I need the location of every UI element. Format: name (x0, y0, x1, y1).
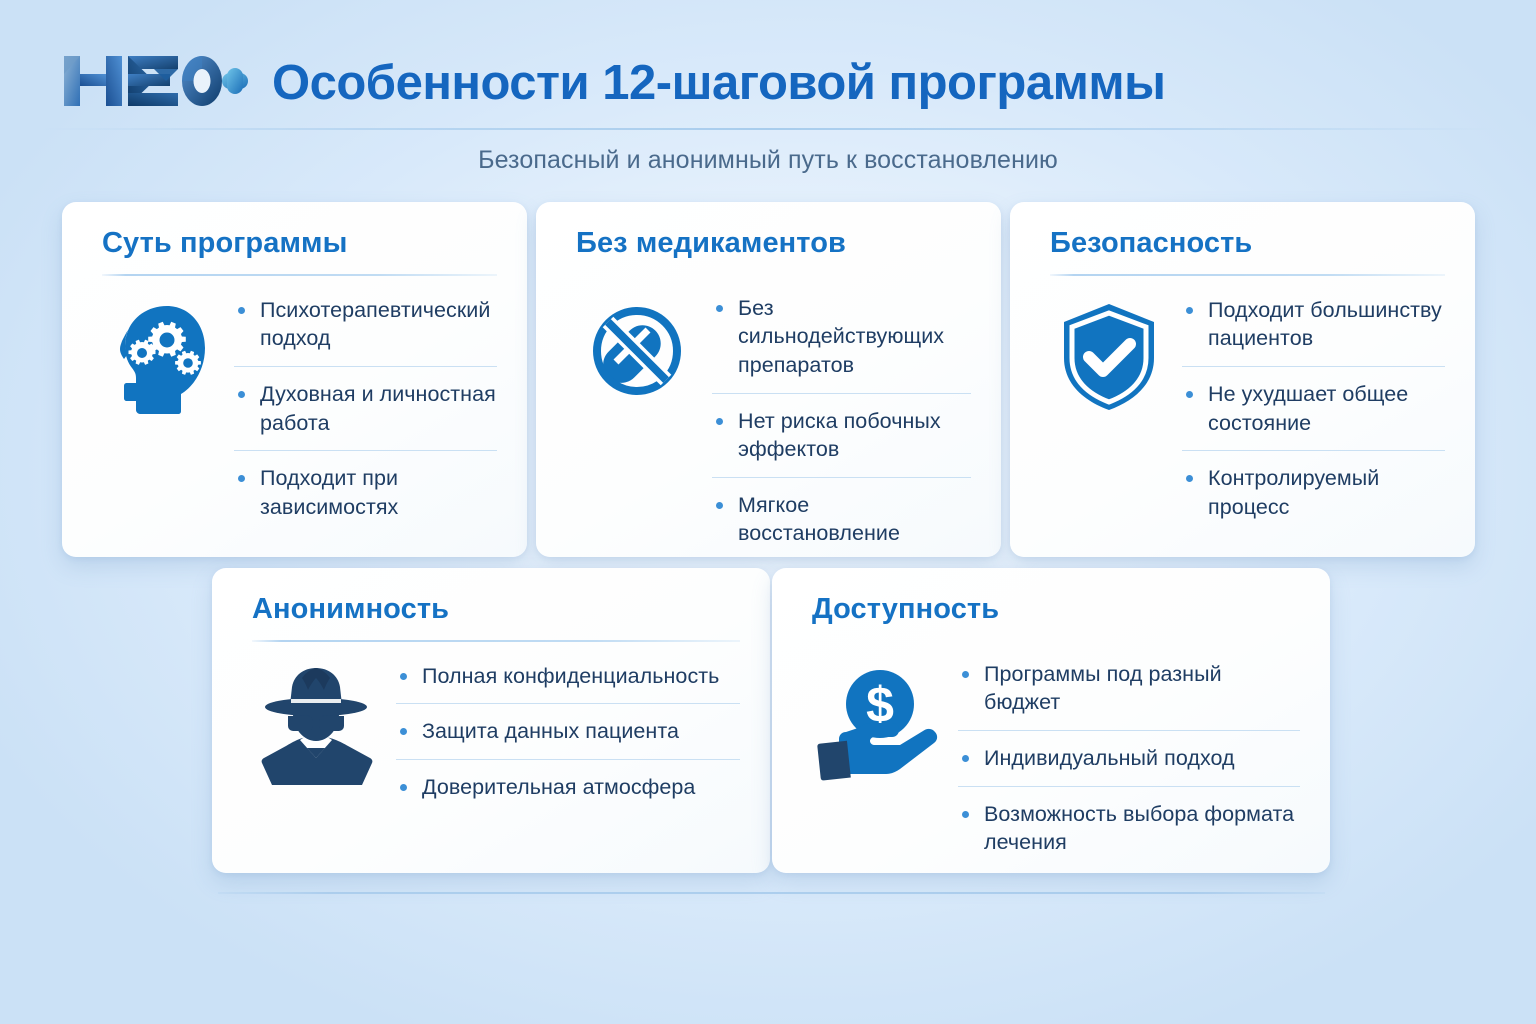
head-with-gears-icon (102, 296, 220, 414)
card-title-divider (1050, 274, 1445, 276)
list-item: Мягкое восстановление (712, 491, 971, 548)
card-title: Суть программы (102, 228, 497, 260)
card-title-divider (102, 274, 497, 276)
list-item: Подходит большинству пациентов (1182, 296, 1445, 367)
card-bez-medikamentov[interactable]: Без медикаментов Без сильно (536, 202, 1001, 557)
list-item: Защита данных пациента (396, 717, 740, 760)
list-item: Нет риска побочных эффектов (712, 407, 971, 478)
card-dostupnost[interactable]: Доступность $ Программы под разный бюдже… (772, 568, 1330, 873)
hand-with-dollar-coin-icon: $ (812, 660, 944, 788)
page-title: Особенности 12-шаговой программы (272, 44, 1165, 122)
neo-plus-logo-icon (62, 52, 248, 110)
card-body: Подходит большинству пациентов Не ухудша… (1050, 282, 1445, 539)
list-item: Без сильнодействующих препаратов (712, 294, 971, 394)
card-title: Без медикаментов (576, 228, 971, 260)
brand-logo (62, 50, 248, 112)
card-body: Без сильнодействующих препаратов Нет рис… (576, 280, 971, 548)
card-body: $ Программы под разный бюджет Индивидуал… (812, 646, 1300, 857)
card-anonimnost[interactable]: Анонимность (212, 568, 770, 873)
list-item: Психотерапевтический подход (234, 296, 497, 367)
list-item: Не ухудшает общее состояние (1182, 380, 1445, 451)
bullet-list: Подходит большинству пациентов Не ухудша… (1182, 296, 1445, 522)
card-sut-programmy[interactable]: Суть программы (62, 202, 527, 557)
card-body: Психотерапевтический подход Духовная и л… (102, 282, 497, 539)
incognito-person-icon (252, 662, 380, 788)
header: Особенности 12-шаговой программы (0, 44, 1536, 122)
no-pills-icon (576, 294, 698, 402)
shield-check-icon (1050, 296, 1168, 412)
list-item: Подходит при зависимостях (234, 464, 497, 521)
bullet-list: Без сильнодействующих препаратов Нет рис… (712, 294, 971, 548)
card-body: Полная конфиденциальность Защита данных … (252, 648, 740, 855)
footer-divider (218, 892, 1325, 894)
list-item: Доверительная атмосфера (396, 773, 740, 802)
infographic-page: Особенности 12-шаговой программы Безопас… (0, 0, 1536, 1024)
list-item: Полная конфиденциальность (396, 662, 740, 705)
list-item: Контролируемый процесс (1182, 464, 1445, 521)
list-item: Возможность выбора формата лечения (958, 800, 1300, 857)
card-title-divider (252, 640, 740, 642)
list-item: Духовная и личностная работа (234, 380, 497, 451)
bullet-list: Психотерапевтический подход Духовная и л… (234, 296, 497, 522)
header-divider (40, 128, 1496, 130)
card-title: Анонимность (252, 594, 740, 626)
card-title: Безопасность (1050, 228, 1445, 260)
list-item: Программы под разный бюджет (958, 660, 1300, 731)
list-item: Индивидуальный подход (958, 744, 1300, 787)
bullet-list: Полная конфиденциальность Защита данных … (396, 662, 740, 802)
bullet-list: Программы под разный бюджет Индивидуальн… (958, 660, 1300, 857)
card-bezopasnost[interactable]: Безопасность Подходит большинству пациен… (1010, 202, 1475, 557)
card-title: Доступность (812, 594, 1300, 626)
page-subtitle: Безопасный и анонимный путь к восстановл… (0, 146, 1536, 175)
